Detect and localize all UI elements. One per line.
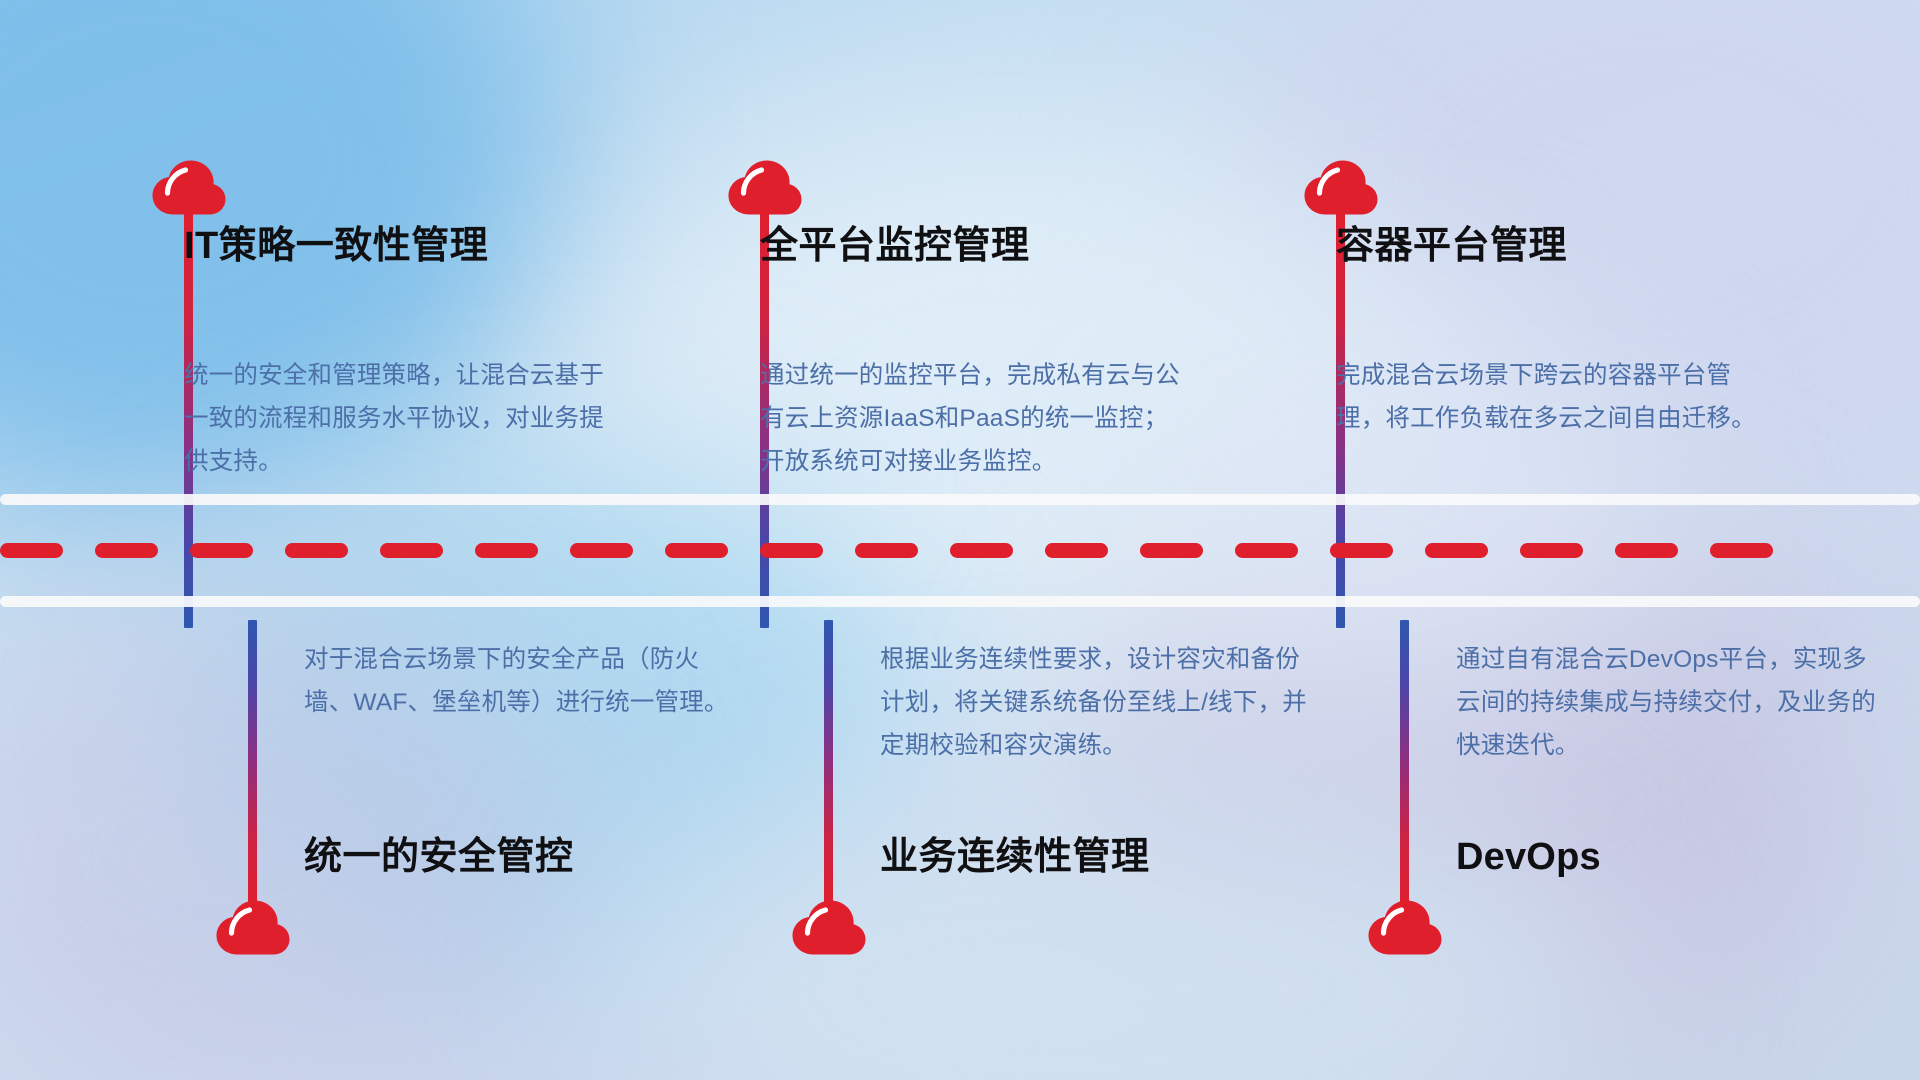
top-column-2-body: 通过统一的监控平台，完成私有云与公有云上资源IaaS和PaaS的统一监控；开放系… [760,354,1190,483]
cloud-icon [152,160,226,216]
divider-dash [1710,543,1773,558]
bottom-column-3-heading: DevOps [1456,838,1601,876]
bottom-column-1-body: 对于混合云场景下的安全产品（防火墙、WAF、堡垒机等）进行统一管理。 [304,638,734,724]
divider-dash [950,543,1013,558]
divider-dash [475,543,538,558]
divider-dash [1045,543,1108,558]
divider-dash [570,543,633,558]
divider-rail-bottom [0,596,1920,607]
divider-dash [95,543,158,558]
cloud-icon [792,900,866,956]
cloud-icon [728,160,802,216]
divider-dash [1140,543,1203,558]
timeline-stem [824,620,833,912]
cloud-icon [216,900,290,956]
top-column-3-body: 完成混合云场景下跨云的容器平台管理，将工作负载在多云之间自由迁移。 [1336,354,1766,440]
divider-dash [0,543,63,558]
divider-dash [1615,543,1678,558]
divider-dash [1425,543,1488,558]
top-column-1-body: 统一的安全和管理策略，让混合云基于一致的流程和服务水平协议，对业务提供支持。 [184,354,614,483]
top-column-2-heading: 全平台监控管理 [760,227,1030,265]
divider-dash [285,543,348,558]
bottom-column-2-heading: 业务连续性管理 [880,838,1150,876]
top-column-1-heading: IT策略一致性管理 [184,227,488,265]
cloud-icon [1368,900,1442,956]
bottom-column-2-body: 根据业务连续性要求，设计容灾和备份计划，将关键系统备份至线上/线下，并定期校验和… [880,638,1310,767]
divider-dash [1330,543,1393,558]
divider-dash [190,543,253,558]
divider-dash [380,543,443,558]
infographic-canvas: IT策略一致性管理 统一的安全和管理策略，让混合云基于一致的流程和服务水平协议，… [0,0,1920,1080]
divider-dash [855,543,918,558]
divider-rail-top [0,494,1920,505]
divider-dashed-line [0,543,1920,558]
bottom-column-3-body: 通过自有混合云DevOps平台，实现多云间的持续集成与持续交付，及业务的快速迭代… [1456,638,1886,767]
divider-dash [665,543,728,558]
timeline-stem [1400,620,1409,912]
cloud-icon [1304,160,1378,216]
divider-dash [1235,543,1298,558]
divider-dash [760,543,823,558]
timeline-stem [248,620,257,912]
divider-dash [1520,543,1583,558]
bottom-column-1-heading: 统一的安全管控 [304,838,574,876]
top-column-3-heading: 容器平台管理 [1336,227,1567,265]
